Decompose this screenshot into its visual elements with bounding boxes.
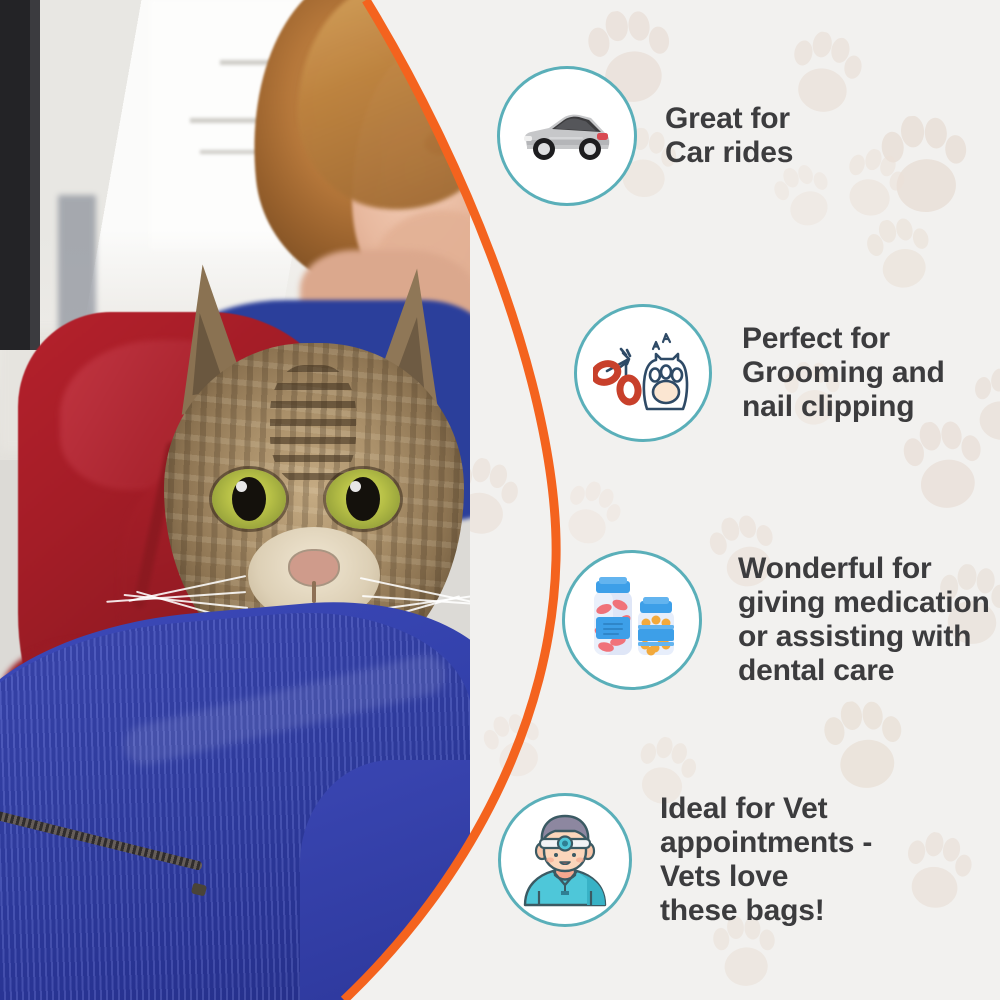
nail-clipper-paw-icon — [593, 327, 693, 419]
feature-label-vet: Ideal for Vet appointments - Vets love t… — [660, 792, 872, 928]
pill-bottles-icon — [582, 575, 682, 665]
pill-bottles-icon-circle — [562, 550, 702, 690]
veterinarian-icon-circle — [498, 793, 632, 927]
car-icon-circle — [497, 66, 637, 206]
feature-item-vet[interactable]: Ideal for Vet appointments - Vets love t… — [498, 792, 872, 928]
feature-label-medication: Wonderful for giving medication or assis… — [738, 552, 990, 688]
infographic-stage: Great for Car rides — [0, 0, 1000, 1000]
nail-clipper-paw-icon-circle — [574, 304, 712, 442]
feature-item-grooming[interactable]: Perfect for Grooming and nail clipping — [574, 304, 945, 442]
feature-label-car-rides: Great for Car rides — [665, 102, 793, 170]
feature-item-car-rides[interactable]: Great for Car rides — [497, 66, 793, 206]
feature-label-grooming: Perfect for Grooming and nail clipping — [742, 322, 945, 424]
feature-item-medication[interactable]: Wonderful for giving medication or assis… — [562, 550, 990, 690]
veterinarian-icon — [517, 813, 613, 907]
car-icon — [519, 107, 615, 165]
